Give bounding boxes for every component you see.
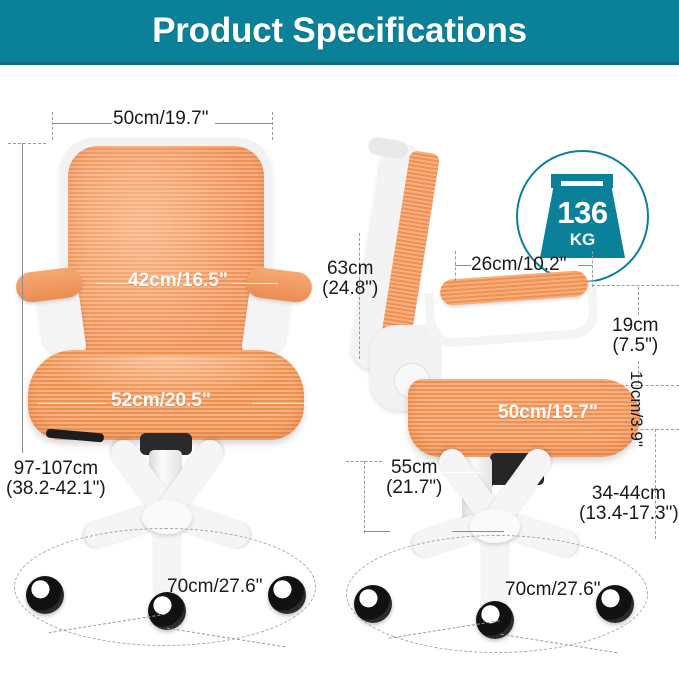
guide-line [52,112,53,140]
guide-line [215,123,272,124]
backrest-mesh [68,146,264,372]
dimension-seat-height-line2: (13.4-17.3") [579,504,679,524]
page-header: Product Specifications [0,0,679,62]
dimension-armrest-height: 19cm (7.5") [612,316,658,356]
dimension-armrest-height-line1: 19cm [612,316,658,336]
dimension-overall-depth-line1: 55cm [386,458,442,478]
guide-line [252,403,314,404]
dimension-seat-height: 34-44cm (13.4-17.3") [579,484,679,524]
guide-line [8,143,46,144]
dimension-seat-height-line1: 34-44cm [579,484,679,504]
guide-line [38,403,106,404]
dimension-overall-height: 97-107cm (38.2-42.1") [6,459,106,499]
guide-line [592,285,679,286]
dimension-seat-depth: 50cm/19.7" [498,403,598,423]
base-footprint-ellipse [14,528,316,646]
dimension-seat-thickness: 10cm/3.9" [627,371,645,447]
base-footprint-ellipse [346,535,648,653]
dimension-overall-width: 50cm/19.7" [113,109,208,129]
dimension-backrest-height-line2: (24.8") [322,279,378,299]
guide-line [52,123,112,124]
guide-line [604,465,634,466]
dimension-base-diameter-side: 70cm/27.6" [505,580,600,600]
guide-line [364,531,390,532]
dimension-backrest-height: 63cm (24.8") [322,259,378,299]
guide-line [452,531,504,532]
guide-line [592,251,593,287]
guide-line [578,265,592,266]
dimension-overall-depth: 55cm (21.7") [386,458,442,498]
dimension-backrest-height-line1: 63cm [322,259,378,279]
dimension-seat-width: 52cm/20.5" [111,391,211,411]
dimension-overall-height-line2: (38.2-42.1") [6,479,106,499]
specification-diagram: 136 KG [0,65,679,656]
dimension-backrest-width: 42cm/16.5" [128,271,228,291]
guide-line [638,287,639,315]
guide-line [455,265,471,266]
guide-line [232,283,278,284]
guide-line [22,143,23,453]
guide-line [455,251,456,281]
dimension-armrest-length: 26cm/10.2" [471,255,566,275]
page-title: Product Specifications [152,11,527,51]
dimension-overall-depth-line2: (21.7") [386,478,442,498]
dimension-armrest-height-line2: (7.5") [612,336,658,356]
dimension-base-diameter-front: 70cm/27.6" [167,577,262,597]
guide-line [364,461,365,533]
guide-line [272,112,273,140]
dimension-overall-height-line1: 97-107cm [6,459,106,479]
backrest-top-cap [367,136,409,160]
